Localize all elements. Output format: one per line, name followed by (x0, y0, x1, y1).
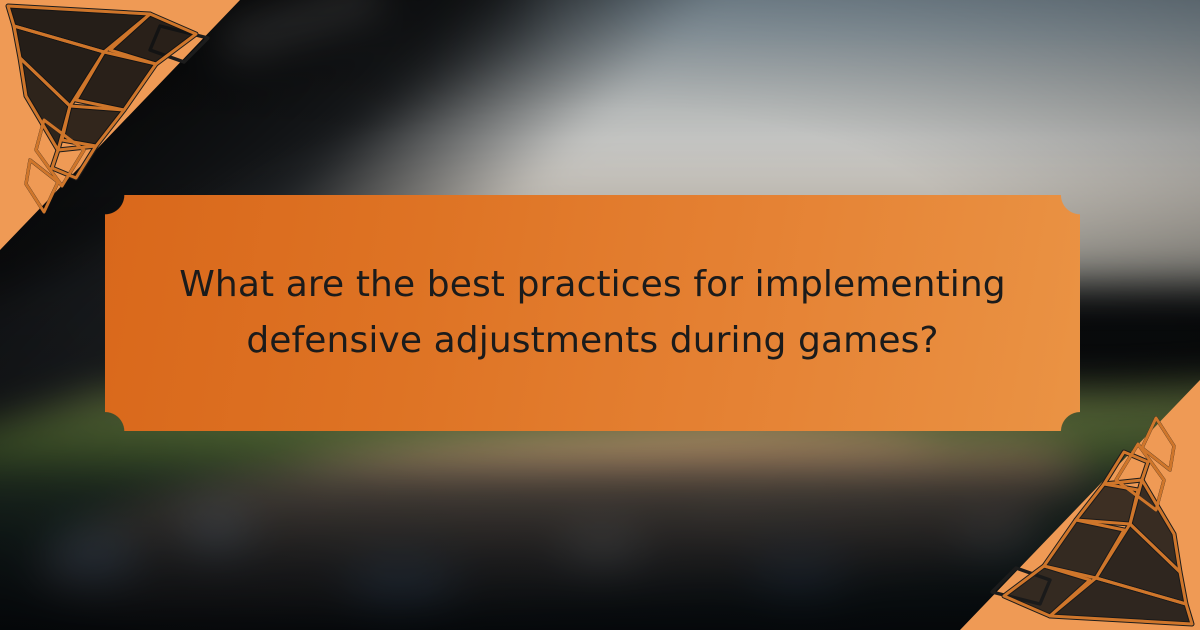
question-card-graphic: What are the best practices for implemen… (0, 0, 1200, 630)
question-text: What are the best practices for implemen… (105, 257, 1080, 369)
question-card: What are the best practices for implemen… (105, 195, 1080, 431)
